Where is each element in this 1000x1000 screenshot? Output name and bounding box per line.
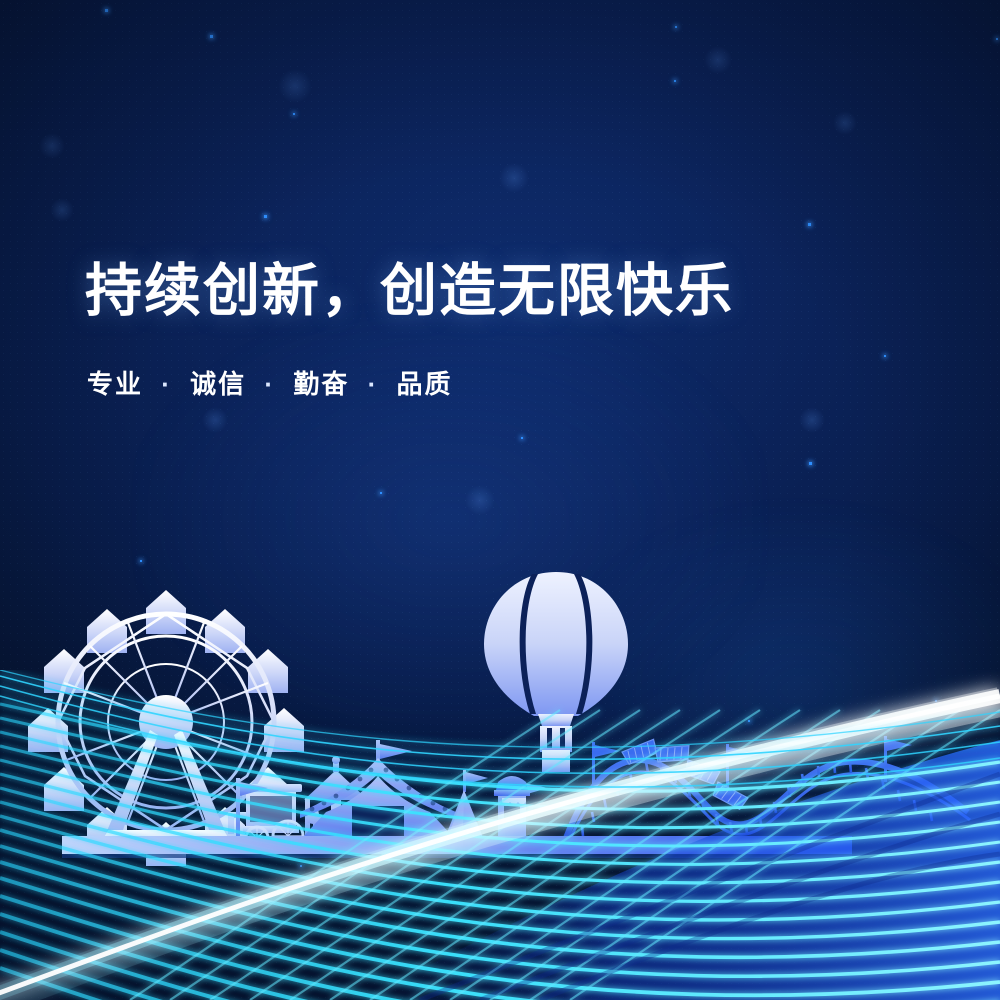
ground-bar [62,836,852,854]
balloon-neck [538,714,574,726]
star-particle [996,38,998,40]
roller-coaster [566,736,970,850]
star-particle [674,80,676,82]
star-particle [521,437,523,439]
star-particle [293,113,295,115]
subtitle-separator-2: · [255,369,284,399]
coaster-track [566,760,970,848]
background-soft-spot [202,407,228,433]
ticket-booth [494,776,530,842]
subtitle-value-4: 品质 [396,369,452,399]
subtitle-value-3: 勤奋 [293,369,349,399]
background-soft-spot [799,407,825,433]
subtitle-value-2: 诚信 [190,369,246,399]
star-particle [380,492,382,494]
page-title: 持续创新，创造无限快乐 [85,262,734,322]
subtitle-value-1: 专业 [87,369,143,399]
ground-shadow [62,854,852,858]
hot-air-balloon [484,572,628,772]
subtitle-separator-3: · [359,369,388,399]
star-particle [808,223,811,226]
headline-block: 持续创新，创造无限快乐 专业 · 诚信 · 勤奋 · 品质 [85,262,734,401]
subtitle-values: 专业 · 诚信 · 勤奋 · 品质 [87,364,734,401]
small-tent [444,770,488,840]
background-soft-spot [39,133,65,159]
star-particle [105,9,108,12]
amusement-park-scene [0,530,1000,1000]
star-particle [809,462,812,465]
star-particle [884,355,886,357]
subtitle-separator-1: · [152,369,181,399]
background-soft-spot [704,46,732,74]
balloon-basket [540,726,572,772]
promotional-poster: 持续创新，创造无限快乐 专业 · 诚信 · 勤奋 · 品质 [0,0,1000,1000]
background-soft-spot [465,485,495,515]
background-soft-spot [278,69,312,103]
background-soft-spot [833,111,857,135]
balloon-envelope [484,572,628,716]
star-particle [675,26,677,28]
background-soft-spot [50,198,74,222]
background-soft-spot [499,163,529,193]
star-particle [210,35,213,38]
star-particle [264,215,267,218]
